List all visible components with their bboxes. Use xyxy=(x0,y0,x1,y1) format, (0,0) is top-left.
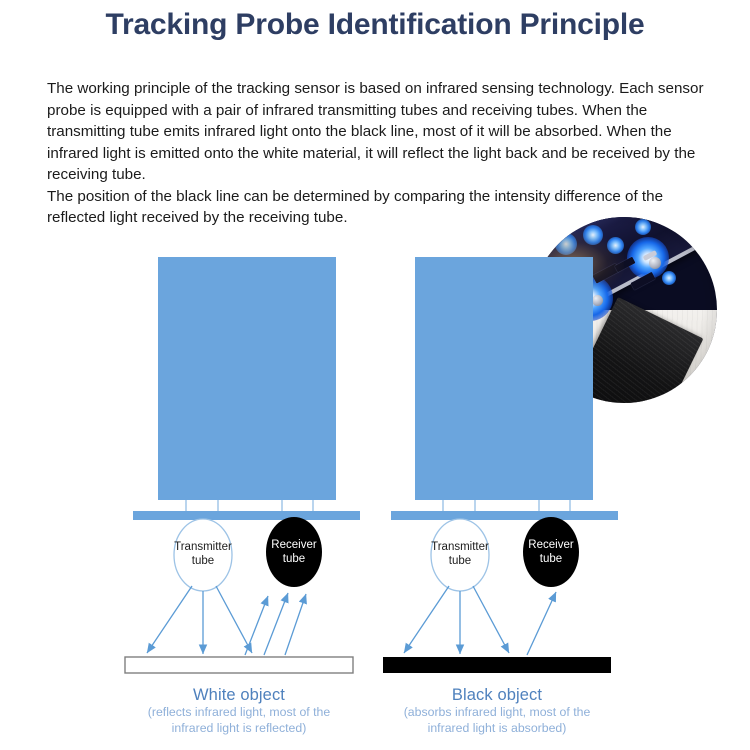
left-sensor-body xyxy=(158,257,336,500)
left-pcb-bar xyxy=(133,511,360,520)
left-panel-white-object xyxy=(125,257,360,673)
black-object-caption: Black object (absorbs infrared light, mo… xyxy=(372,686,622,736)
black-object-title: Black object xyxy=(372,686,622,705)
white-object-subcaption-line2: infrared light is reflected) xyxy=(114,721,364,737)
right-transmitter-tube-label: Transmitter tube xyxy=(420,540,500,568)
intro-text-block: The working principle of the tracking se… xyxy=(47,78,707,229)
left-transmitter-tube-label: Transmitter tube xyxy=(163,540,243,568)
left-receiver-tube-label: Receiver tube xyxy=(254,538,334,566)
white-object-title: White object xyxy=(114,686,364,705)
right-black-object xyxy=(383,657,611,673)
right-receiver-tube-label: Receiver tube xyxy=(511,538,591,566)
left-reflected-ray-3 xyxy=(285,594,306,655)
right-pcb-bar xyxy=(391,511,618,520)
left-white-object xyxy=(125,657,353,673)
left-reflected-ray-2 xyxy=(264,593,288,655)
left-emitted-ray-3 xyxy=(216,586,252,653)
page-title: Tracking Probe Identification Principle xyxy=(0,8,750,42)
right-reflected-ray-1 xyxy=(527,592,556,655)
white-object-caption: White object (reflects infrared light, m… xyxy=(114,686,364,736)
left-reflected-ray-1 xyxy=(245,596,268,655)
white-object-subcaption-line1: (reflects infrared light, most of the xyxy=(114,705,364,721)
right-emitted-ray-3 xyxy=(473,586,509,653)
black-object-subcaption-line2: infrared light is absorbed) xyxy=(372,721,622,737)
black-object-subcaption-line1: (absorbs infrared light, most of the xyxy=(372,705,622,721)
photo-vignette xyxy=(531,217,717,403)
tracking-sensor-photo xyxy=(531,217,717,403)
left-emitted-ray-1 xyxy=(147,586,192,653)
intro-paragraph-1: The working principle of the tracking se… xyxy=(47,78,707,186)
right-emitted-ray-1 xyxy=(404,586,449,653)
